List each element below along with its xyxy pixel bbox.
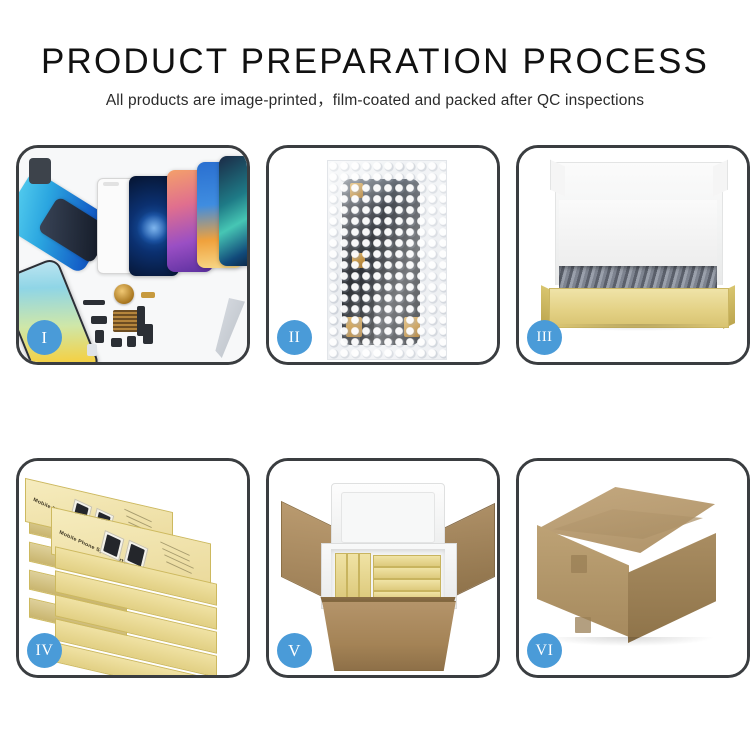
step-panel-4[interactable]: Mobile Phone Spare Parts Mobile Phone Sp… [16, 458, 250, 678]
carton-shadow [545, 637, 713, 646]
step-badge-4: IV [27, 633, 62, 668]
page-title: PRODUCT PREPARATION PROCESS [0, 0, 750, 81]
packed-box-1 [335, 553, 347, 599]
connector-part-d [127, 336, 136, 347]
step-badge-2: II [277, 320, 312, 355]
step-badge-3: III [527, 320, 562, 355]
sim-tray-part [87, 344, 97, 356]
step-badge-6: VI [527, 633, 562, 668]
phone-teal-display [219, 156, 247, 266]
page-subtitle: All products are image-printed，film-coat… [0, 81, 750, 110]
step-5-image: V [269, 461, 497, 675]
connector-part-c [111, 338, 122, 347]
shipping-carton-open [313, 601, 465, 671]
step-panel-5[interactable]: V [266, 458, 500, 678]
speaker-coil-part [114, 284, 134, 304]
packed-box-3 [359, 553, 371, 599]
packed-box-2 [347, 553, 359, 599]
carton-tape-lower [575, 617, 591, 633]
step-2-image: II [269, 148, 497, 362]
process-steps-grid: I II [16, 145, 735, 678]
small-part-strip [83, 300, 105, 305]
bubble-wrap-bag [327, 160, 447, 360]
box-shadow [555, 324, 721, 331]
logic-board-part [113, 310, 139, 332]
connector-part-b [95, 330, 104, 343]
step-panel-2[interactable]: II [266, 145, 500, 365]
white-foam-sheet [559, 200, 717, 270]
connector-part-a [91, 316, 107, 324]
tweezers-tool [205, 298, 245, 358]
plastic-sheen [328, 161, 446, 359]
step-panel-3[interactable]: III [516, 145, 750, 365]
step-3-image: III [519, 148, 747, 362]
step-badge-1: I [27, 320, 62, 355]
step-badge-5: V [277, 633, 312, 668]
infographic-page: PRODUCT PREPARATION PROCESS All products… [0, 0, 750, 750]
carton-tape-upper [571, 555, 587, 573]
step-panel-6[interactable]: VI [516, 458, 750, 678]
step-6-image: VI [519, 461, 747, 675]
yellow-box-tray [549, 288, 729, 328]
gold-contact-part [141, 292, 155, 298]
step-4-image: Mobile Phone Spare Parts Mobile Phone Sp… [19, 461, 247, 675]
packed-box-6 [373, 579, 441, 591]
header: PRODUCT PREPARATION PROCESS All products… [0, 0, 750, 110]
packed-box-5 [373, 567, 441, 579]
packed-box-4 [373, 555, 441, 567]
flex-cable-part [137, 306, 145, 336]
step-panel-1[interactable]: I [16, 145, 250, 365]
step-1-image: I [19, 148, 247, 362]
